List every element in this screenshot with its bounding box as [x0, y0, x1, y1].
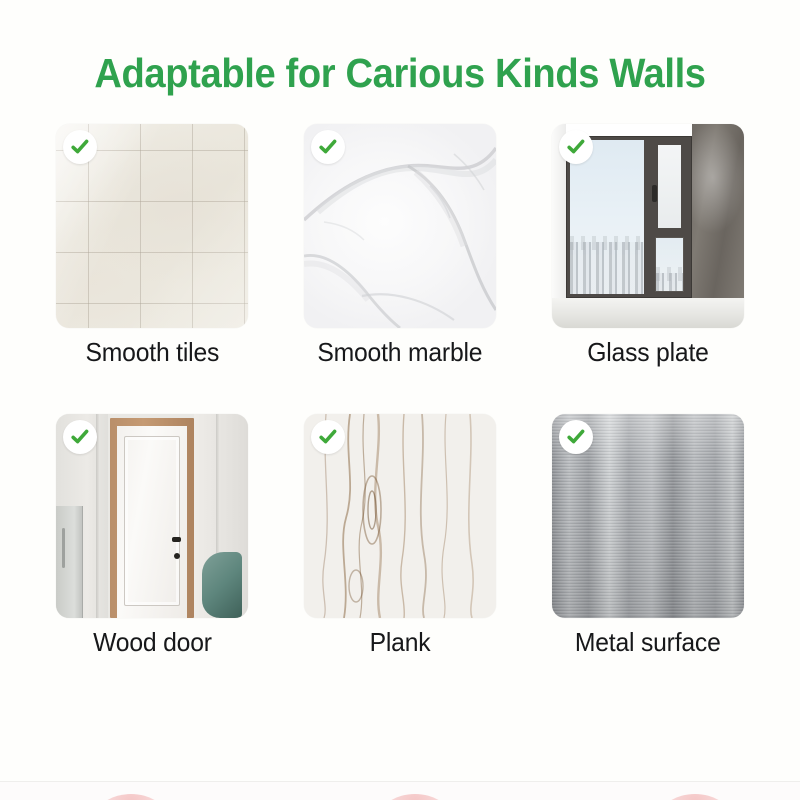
- green-check-icon: [311, 420, 345, 454]
- surface-card-metal-surface[interactable]: Metal surface: [552, 414, 744, 657]
- product-infographic-page: Adaptable for Carious Kinds Walls Smooth…: [0, 0, 800, 800]
- next-section-shape: [380, 794, 450, 800]
- door-slab: [117, 426, 187, 618]
- surface-image-smooth-tiles: [56, 124, 248, 328]
- green-check-icon: [63, 130, 97, 164]
- surface-label-smooth-tiles: Smooth tiles: [85, 337, 219, 367]
- green-check-icon: [63, 420, 97, 454]
- window-handle: [652, 185, 657, 202]
- surface-label-wood-door: Wood door: [93, 627, 212, 657]
- window-lower-pane: [655, 237, 684, 292]
- next-section-shape: [660, 794, 730, 800]
- surface-label-glass-plate: Glass plate: [587, 337, 708, 367]
- surface-image-metal-surface: [552, 414, 744, 618]
- green-check-icon: [559, 130, 593, 164]
- next-section-peek: [0, 782, 800, 800]
- surface-image-wood-door: [56, 414, 248, 618]
- page-title: Adaptable for Carious Kinds Walls: [28, 50, 772, 96]
- surface-card-smooth-tiles[interactable]: Smooth tiles: [56, 124, 248, 367]
- window-right-column: [647, 140, 688, 294]
- city-skyline: [656, 273, 683, 291]
- surface-card-smooth-marble[interactable]: Smooth marble: [304, 124, 496, 367]
- city-skyline: [570, 242, 644, 294]
- wall-groove: [96, 414, 99, 618]
- door-lock: [174, 553, 180, 559]
- side-cabinet: [56, 506, 83, 618]
- green-check-icon: [559, 420, 593, 454]
- window-opening-sash: [655, 142, 684, 231]
- green-check-icon: [311, 130, 345, 164]
- window-right-reveal: [692, 124, 744, 302]
- surface-grid: Smooth tiles: [56, 124, 744, 657]
- surface-label-plank: Plank: [370, 627, 431, 657]
- green-chair: [202, 552, 242, 618]
- surface-card-plank[interactable]: Plank: [304, 414, 496, 657]
- surface-grid-row: Smooth tiles: [56, 124, 744, 367]
- surface-image-plank: [304, 414, 496, 618]
- door-panel: [124, 436, 180, 606]
- surface-image-smooth-marble: [304, 124, 496, 328]
- surface-label-smooth-marble: Smooth marble: [317, 337, 482, 367]
- surface-grid-row: Wood door: [56, 414, 744, 657]
- door-frame: [110, 418, 194, 618]
- surface-image-glass-plate: [552, 124, 744, 328]
- next-section-shape: [96, 794, 166, 800]
- surface-card-glass-plate[interactable]: Glass plate: [552, 124, 744, 367]
- surface-card-wood-door[interactable]: Wood door: [56, 414, 248, 657]
- door-handle: [172, 537, 181, 542]
- window-sill: [552, 298, 744, 328]
- surface-label-metal-surface: Metal surface: [575, 627, 721, 657]
